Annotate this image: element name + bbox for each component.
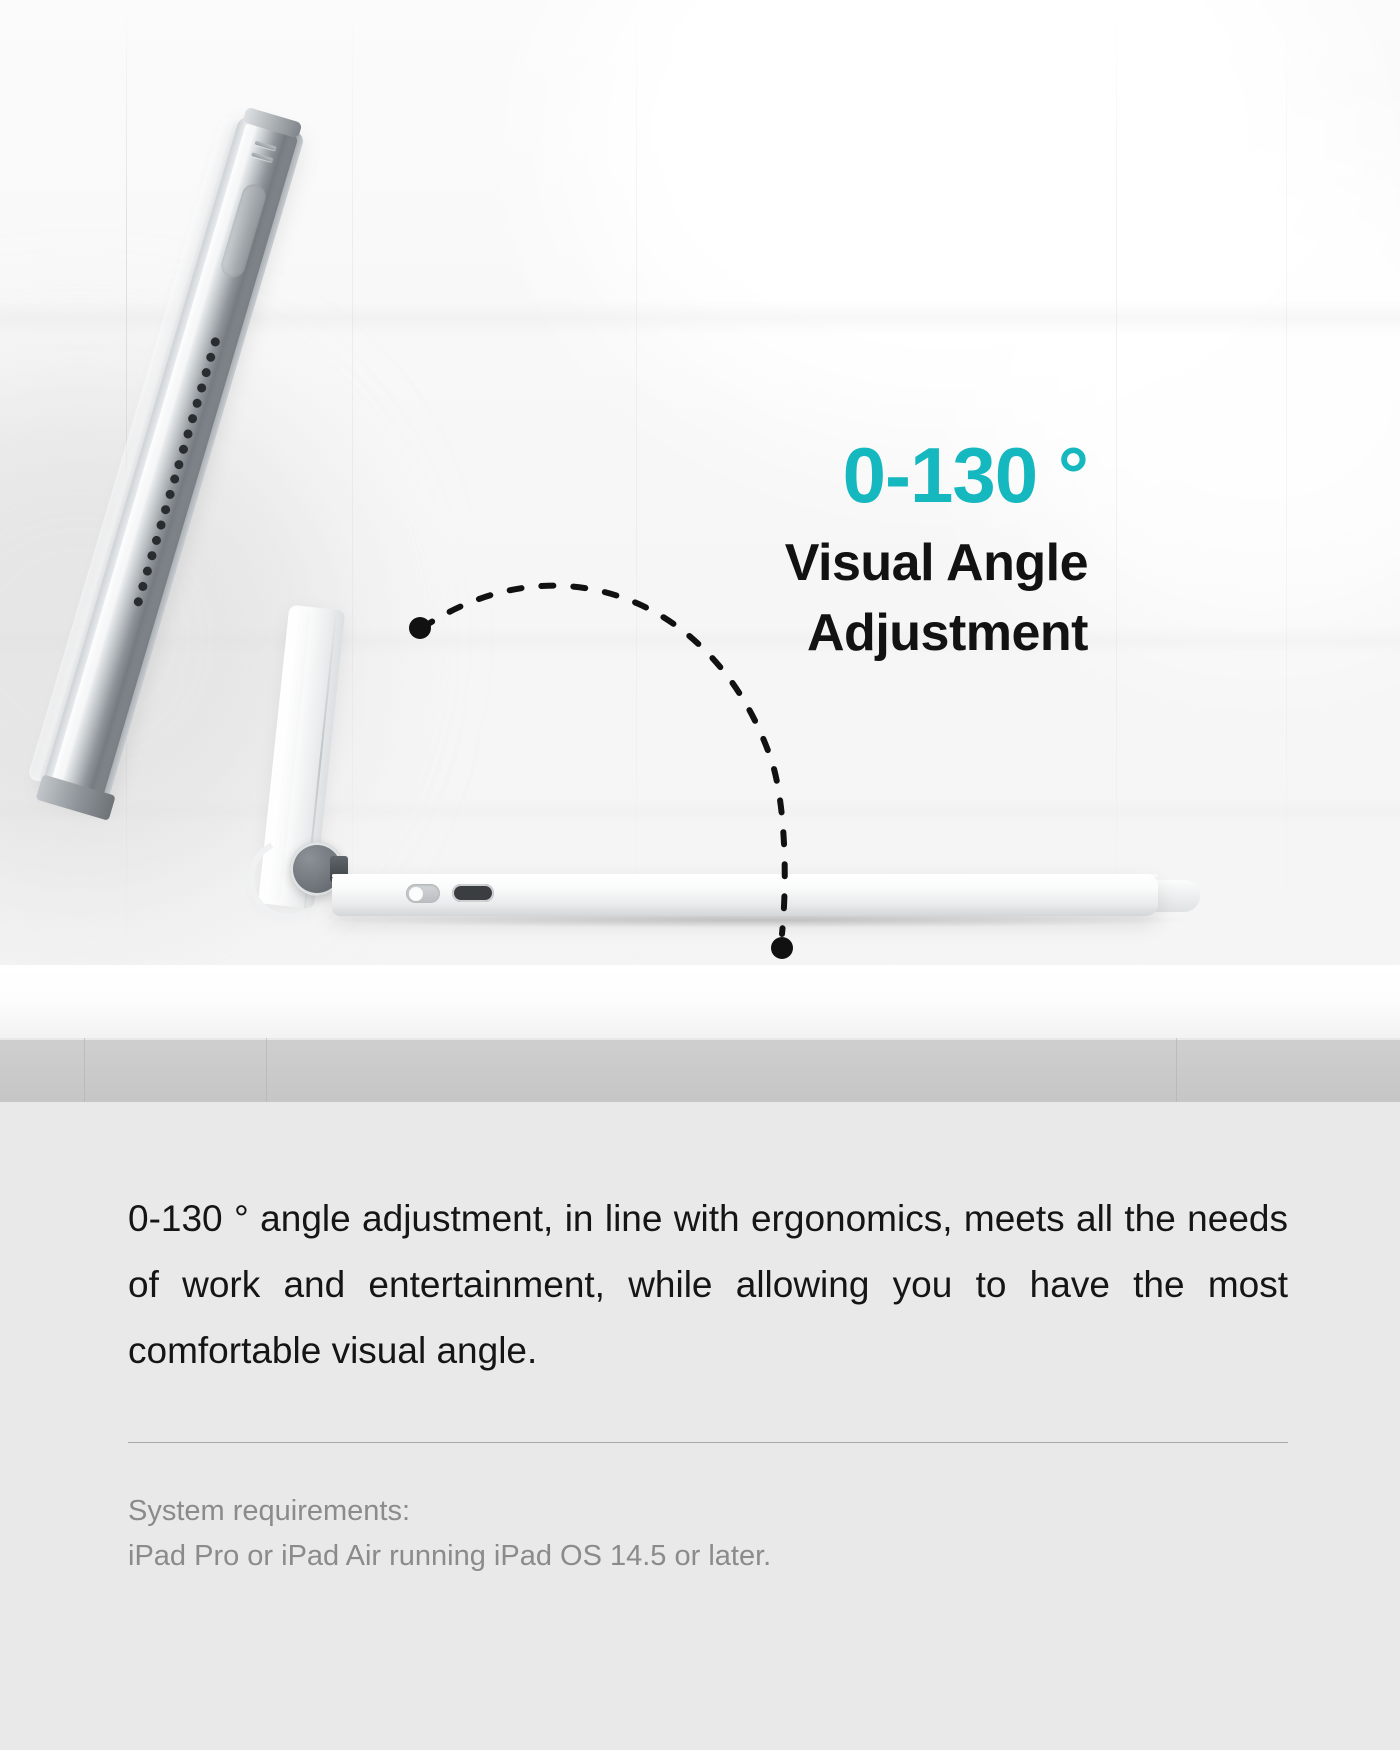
description-panel: 0-130 ° angle adjustment, in line with e…: [0, 1102, 1400, 1750]
headline-line-1: Visual Angle: [785, 528, 1088, 598]
speaker-hole: [173, 458, 184, 469]
speaker-hole: [205, 351, 216, 362]
ipad-tablet: [41, 115, 305, 805]
feature-description: 0-130 ° angle adjustment, in line with e…: [128, 1186, 1288, 1384]
speaker-hole: [178, 443, 189, 454]
speaker-hole: [146, 550, 157, 561]
angle-range-value: 0-130 °: [785, 436, 1088, 514]
arc-end-dot: [771, 937, 793, 959]
speaker-hole: [182, 428, 193, 439]
speaker-hole: [132, 596, 143, 607]
description-inner: 0-130 ° angle adjustment, in line with e…: [128, 1186, 1288, 1578]
speaker-hole: [164, 489, 175, 500]
desk-edge-seam: [84, 1038, 85, 1102]
wall-horizontal-band: [0, 626, 1400, 656]
ipad-edge-highlight: [50, 121, 259, 790]
desk-edge-seam: [266, 1038, 267, 1102]
desk-surface: [0, 966, 1400, 1040]
speaker-hole: [137, 581, 148, 592]
section-divider: [128, 1442, 1288, 1443]
speaker-hole: [191, 397, 202, 408]
system-requirements: System requirements: iPad Pro or iPad Ai…: [128, 1489, 1288, 1579]
headline-line-2: Adjustment: [785, 598, 1088, 668]
system-requirements-value: iPad Pro or iPad Air running iPad OS 14.…: [128, 1534, 1288, 1579]
speaker-hole: [209, 336, 220, 347]
speaker-hole: [200, 367, 211, 378]
usb-c-port: [452, 884, 494, 902]
hero-headline: 0-130 ° Visual Angle Adjustment: [785, 436, 1088, 668]
status-indicator: [406, 884, 440, 903]
speaker-hole: [159, 504, 170, 515]
ipad-body: [41, 115, 305, 805]
desk-front-edge: [0, 1038, 1400, 1102]
product-feature-page: 0-130 ° Visual Angle Adjustment 0-130 ° …: [0, 0, 1400, 1750]
speaker-hole: [168, 474, 179, 485]
speaker-hole: [196, 382, 207, 393]
system-requirements-label: System requirements:: [128, 1489, 1288, 1534]
speaker-hole: [141, 565, 152, 576]
wall-light-glow: [560, 0, 1340, 450]
desk-edge-seam: [1176, 1038, 1177, 1102]
hero-photo-section: 0-130 ° Visual Angle Adjustment: [0, 0, 1400, 1102]
volume-up-button: [254, 141, 276, 151]
speaker-hole: [150, 535, 161, 546]
speaker-hole: [187, 413, 198, 424]
wall-horizontal-band: [0, 798, 1400, 824]
volume-down-button: [251, 152, 273, 162]
speaker-hole: [155, 520, 166, 531]
